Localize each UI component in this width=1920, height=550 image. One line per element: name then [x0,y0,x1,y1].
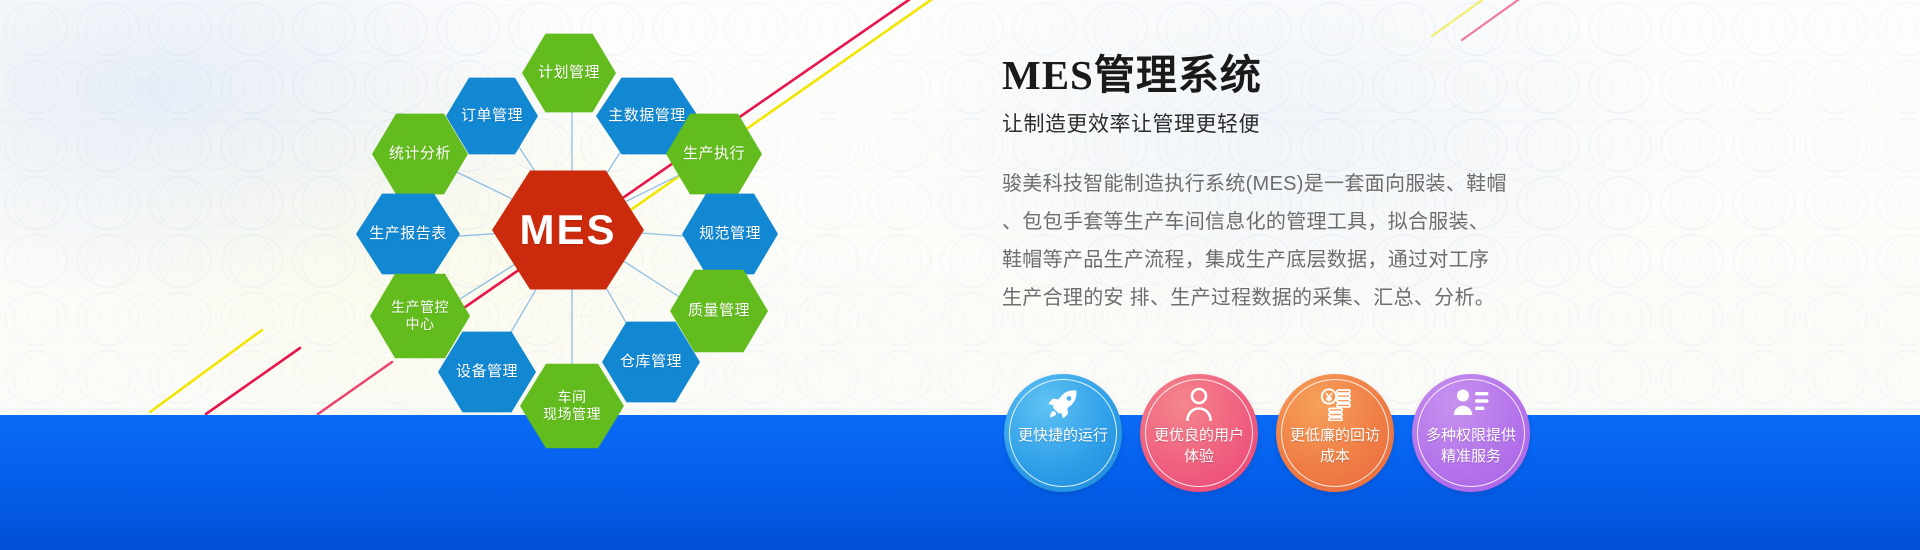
description-line: 鞋帽等产品生产流程，集成生产底层数据，通过对工序 [1002,241,1602,279]
hex-label: 生产管控 中心 [385,299,455,333]
hex-label: 计划管理 [532,64,606,82]
coins-icon [1318,387,1352,421]
feature-badges: 更快捷的运行 更优良的用户 体验 [1004,374,1530,492]
user-list-icon [1453,387,1489,421]
badge-label: 更快捷的运行 [1011,425,1115,446]
badge-better-experience[interactable]: 更优良的用户 体验 [1140,374,1258,492]
bottom-blue-band [0,415,1920,550]
page-subtitle: 让制造更效率让管理更轻便 [1002,108,1602,138]
page-title: MES管理系统 [1002,52,1602,99]
description-line: 骏美科技智能制造执行系统(MES)是一套面向服装、鞋帽 [1002,165,1602,203]
badge-label: 更优良的用户 体验 [1147,425,1251,467]
hex-label: 统计分析 [383,145,457,163]
badge-permissions[interactable]: 多种权限提供 精准服务 [1412,374,1530,492]
hex-label: 质量管理 [682,302,756,320]
badge-faster-operation[interactable]: 更快捷的运行 [1004,374,1122,492]
banner-stage: MES 计划管理 订单管理 主数据管理 统计分析 生产执行 生产报告表 规范管理 [0,0,1920,550]
description-line: 、包包手套等生产车间信息化的管理工具，拟合服装、 [1002,203,1602,241]
hex-label: 主数据管理 [602,107,692,125]
badge-label: 更低廉的回访 成本 [1283,425,1387,467]
rocket-icon [1046,387,1080,421]
hex-label: 车间 现场管理 [537,389,607,423]
hex-label: 生产执行 [677,145,751,163]
hex-center-label: MES [513,205,622,255]
description-line: 生产合理的安 排、生产过程数据的采集、汇总、分析。 [1002,279,1602,317]
hex-label: 仓库管理 [614,353,688,371]
mes-hex-diagram: MES 计划管理 订单管理 主数据管理 统计分析 生产执行 生产报告表 规范管理 [380,0,820,500]
hex-label: 订单管理 [455,107,529,125]
hex-label: 规范管理 [693,225,767,243]
badge-lower-cost[interactable]: 更低廉的回访 成本 [1276,374,1394,492]
user-icon [1183,387,1215,421]
copy-block: MES管理系统 让制造更效率让管理更轻便 骏美科技智能制造执行系统(MES)是一… [1002,52,1602,317]
hex-label: 设备管理 [450,363,524,381]
description-paragraph: 骏美科技智能制造执行系统(MES)是一套面向服装、鞋帽 、包包手套等生产车间信息… [1002,165,1602,317]
hex-label: 生产报告表 [363,225,453,243]
badge-label: 多种权限提供 精准服务 [1419,425,1523,467]
